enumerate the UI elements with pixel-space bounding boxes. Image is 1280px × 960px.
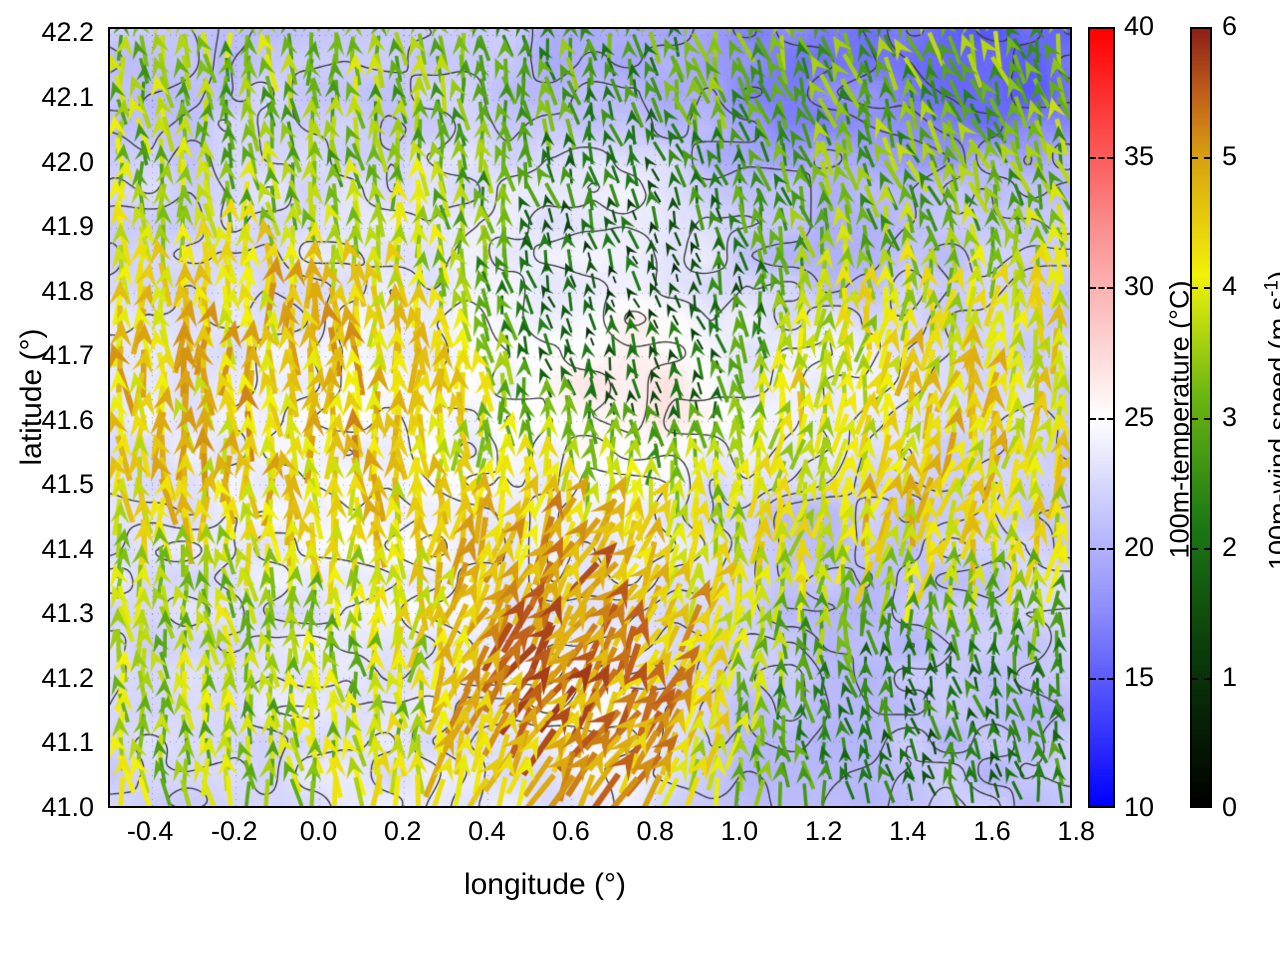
x-tick-label: -0.2 [189,818,279,845]
colorbar-tick-mark [1192,418,1210,420]
windspeed-colorbar-label-tail: ) [1264,271,1280,280]
colorbar-tick-label: 0 [1222,794,1237,821]
y-tick-label: 41.0 [14,794,94,821]
colorbar-tick-mark [1192,287,1210,289]
colorbar-tick-mark [1192,678,1210,680]
colorbar-tick-label: 2 [1222,534,1237,561]
colorbar-tick-label: 30 [1124,273,1154,300]
x-tick-label: 0.8 [610,818,700,845]
x-tick-label: 1.6 [947,818,1037,845]
y-tick-label: 42.0 [14,149,94,176]
colorbar-tick-label: 6 [1222,13,1237,40]
x-tick-label: 1.2 [779,818,869,845]
colorbar-tick-label: 5 [1222,143,1237,170]
colorbar-tick-label: 15 [1124,664,1154,691]
y-tick-label: 41.3 [14,600,94,627]
x-tick-label: 0.0 [273,818,363,845]
wind-temperature-map-figure: 42.242.142.041.941.841.741.641.541.441.3… [0,0,1280,960]
x-tick-label: 0.4 [442,818,532,845]
y-tick-label: 42.1 [14,84,94,111]
x-tick-label: -0.4 [105,818,195,845]
colorbar-tick-mark [1090,157,1113,159]
map-plot-area [108,27,1072,808]
colorbar-tick-label: 1 [1222,664,1237,691]
colorbar-tick-label: 20 [1124,534,1154,561]
colorbar-tick-label: 25 [1124,404,1154,431]
windspeed-colorbar-label-exponent: -1 [1262,280,1280,297]
x-tick-label: 0.6 [526,818,616,845]
x-tick-label: 0.2 [358,818,448,845]
y-tick-label: 42.2 [14,19,94,46]
x-tick-label: 1.8 [1031,818,1121,845]
colorbar-tick-label: 35 [1124,143,1154,170]
colorbar-tick-mark [1090,678,1113,680]
colorbar-tick-label: 40 [1124,13,1154,40]
colorbar-tick-mark [1090,548,1113,550]
colorbar-tick-label: 4 [1222,273,1237,300]
y-tick-label: 41.2 [14,665,94,692]
y-axis-label: latitude (°) [15,277,49,517]
y-tick-label: 41.4 [14,536,94,563]
y-tick-label: 41.9 [14,213,94,240]
windspeed-colorbar-label-main: 100m-wind speed (m s [1264,297,1280,570]
windspeed-colorbar-label: 100m-wind speed (m s-1) [1262,251,1280,591]
y-tick-label: 41.1 [14,729,94,756]
colorbar-tick-mark [1090,287,1113,289]
colorbar-tick-mark [1192,157,1210,159]
x-axis-label: longitude (°) [0,868,1090,902]
colorbar-tick-mark [1192,548,1210,550]
x-tick-label: 1.0 [694,818,784,845]
colorbar-tick-label: 3 [1222,404,1237,431]
map-canvas [110,29,1070,806]
colorbar-tick-mark [1090,418,1113,420]
x-tick-label: 1.4 [863,818,953,845]
colorbar-tick-label: 10 [1124,794,1154,821]
